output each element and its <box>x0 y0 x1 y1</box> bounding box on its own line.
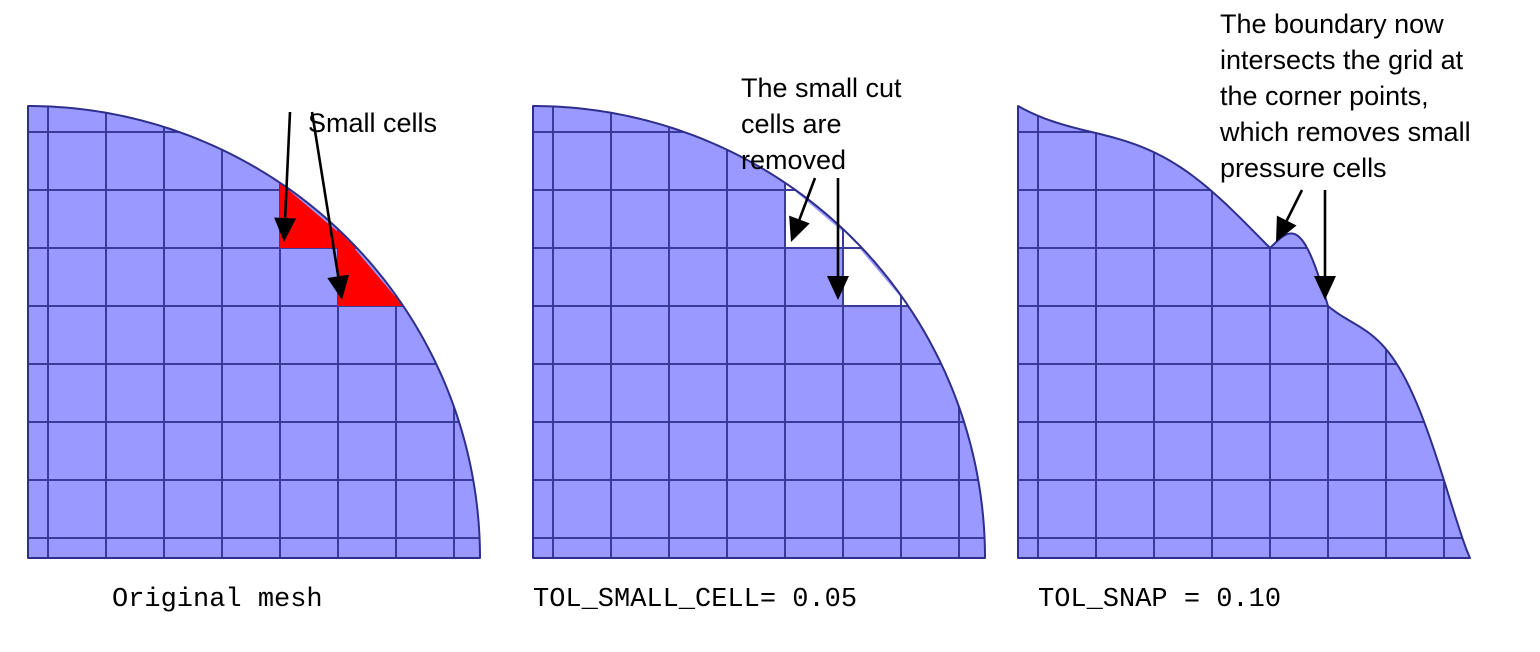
annotation-boundary-snap: The boundary now intersects the grid at … <box>1220 6 1471 186</box>
annotation-arrow-small-cell-1 <box>274 112 296 242</box>
mesh-fill-group <box>28 106 480 558</box>
mesh-fill-region <box>28 106 480 558</box>
caption-tol-snap: TOL_SNAP = 0.10 <box>1038 585 1281 615</box>
mesh-diagram-original <box>0 0 505 652</box>
panel-tol-small-cell: TOL_SMALL_CELL= 0.05 The small cut cells… <box>505 0 1010 652</box>
annotation-small-cells: Small cells <box>308 105 437 141</box>
panel-tol-snap: TOL_SNAP = 0.10 The boundary now interse… <box>1010 0 1540 652</box>
mesh-comparison-figure: Original mesh Small cells TOL_SMALL_CELL… <box>0 0 1540 652</box>
panel-original-mesh: Original mesh Small cells <box>0 0 505 652</box>
annotation-small-cut-cells-removed: The small cut cells are removed <box>741 70 902 178</box>
caption-tol-small-cell: TOL_SMALL_CELL= 0.05 <box>533 585 857 615</box>
annotation-arrow-corner-snap-1-shaft <box>1287 190 1302 221</box>
caption-original-mesh: Original mesh <box>112 585 323 615</box>
